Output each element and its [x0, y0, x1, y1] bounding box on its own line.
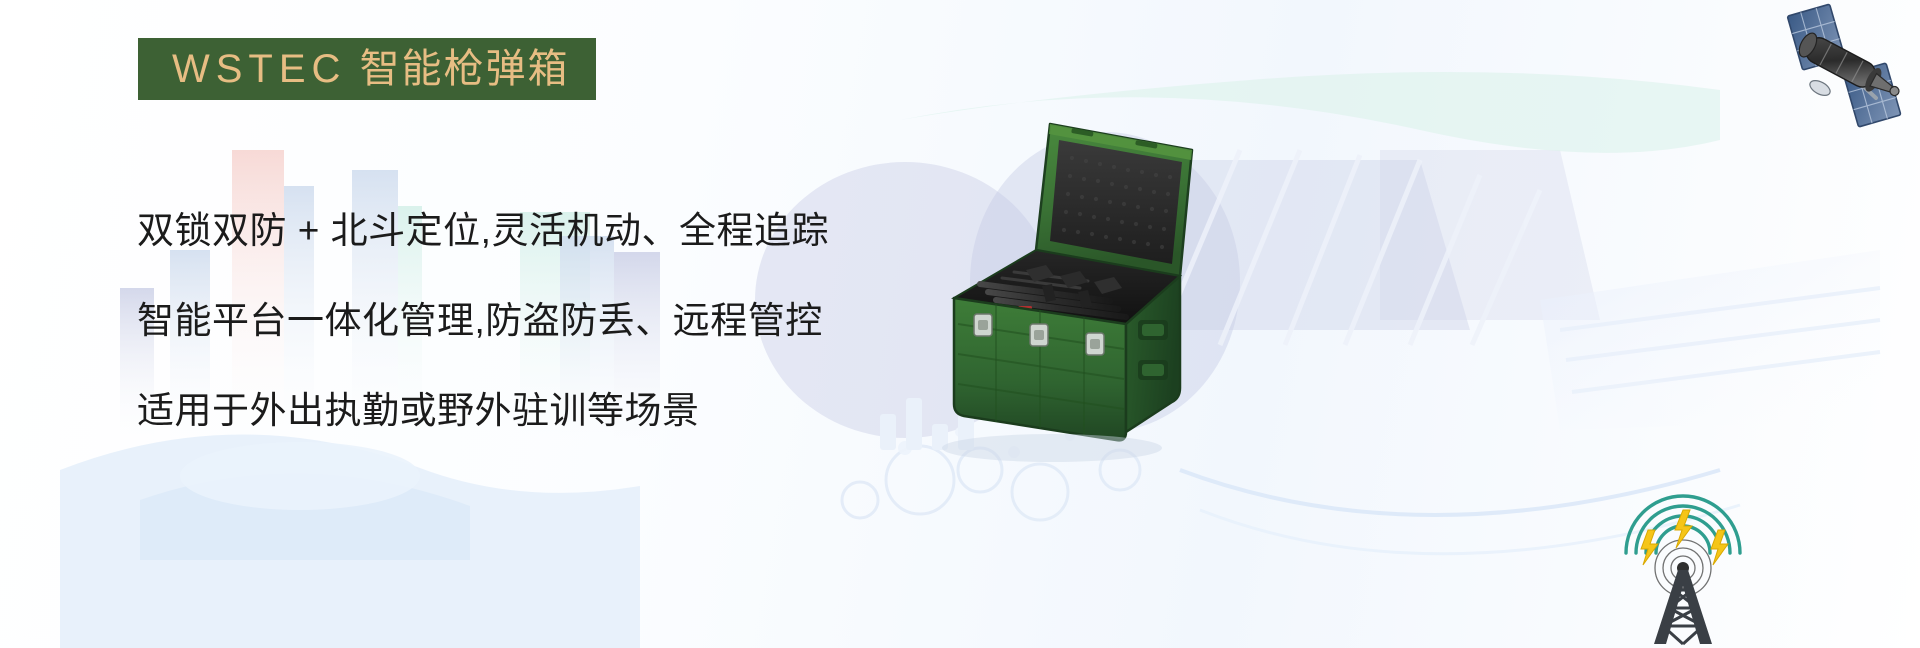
feature-line-3: 适用于外出执勤或野外驻训等场景 — [137, 366, 957, 456]
feature-line-1: 双锁双防 + 北斗定位,灵活机动、全程追踪 — [137, 186, 957, 276]
case-lid — [1036, 124, 1192, 276]
title-chinese: 智能枪弹箱 — [360, 47, 570, 91]
title-banner: WSTEC 智能枪弹箱 — [138, 38, 596, 100]
satellite-icon — [1780, 2, 1915, 132]
page-title: WSTEC 智能枪弹箱 — [172, 49, 570, 89]
case-base — [942, 250, 1180, 462]
product-banner: WSTEC 智能枪弹箱 双锁双防 + 北斗定位,灵活机动、全程追踪 智能平台一体… — [0, 0, 1920, 648]
ammunition-case-illustration — [930, 110, 1270, 470]
feature-copy-block: 双锁双防 + 北斗定位,灵活机动、全程追踪 智能平台一体化管理,防盗防丢、远程管… — [137, 186, 957, 456]
feature-line-2: 智能平台一体化管理,防盗防丢、远程管控 — [137, 276, 957, 366]
signal-tower-icon — [1608, 418, 1758, 648]
title-latin: WSTEC — [172, 47, 346, 91]
